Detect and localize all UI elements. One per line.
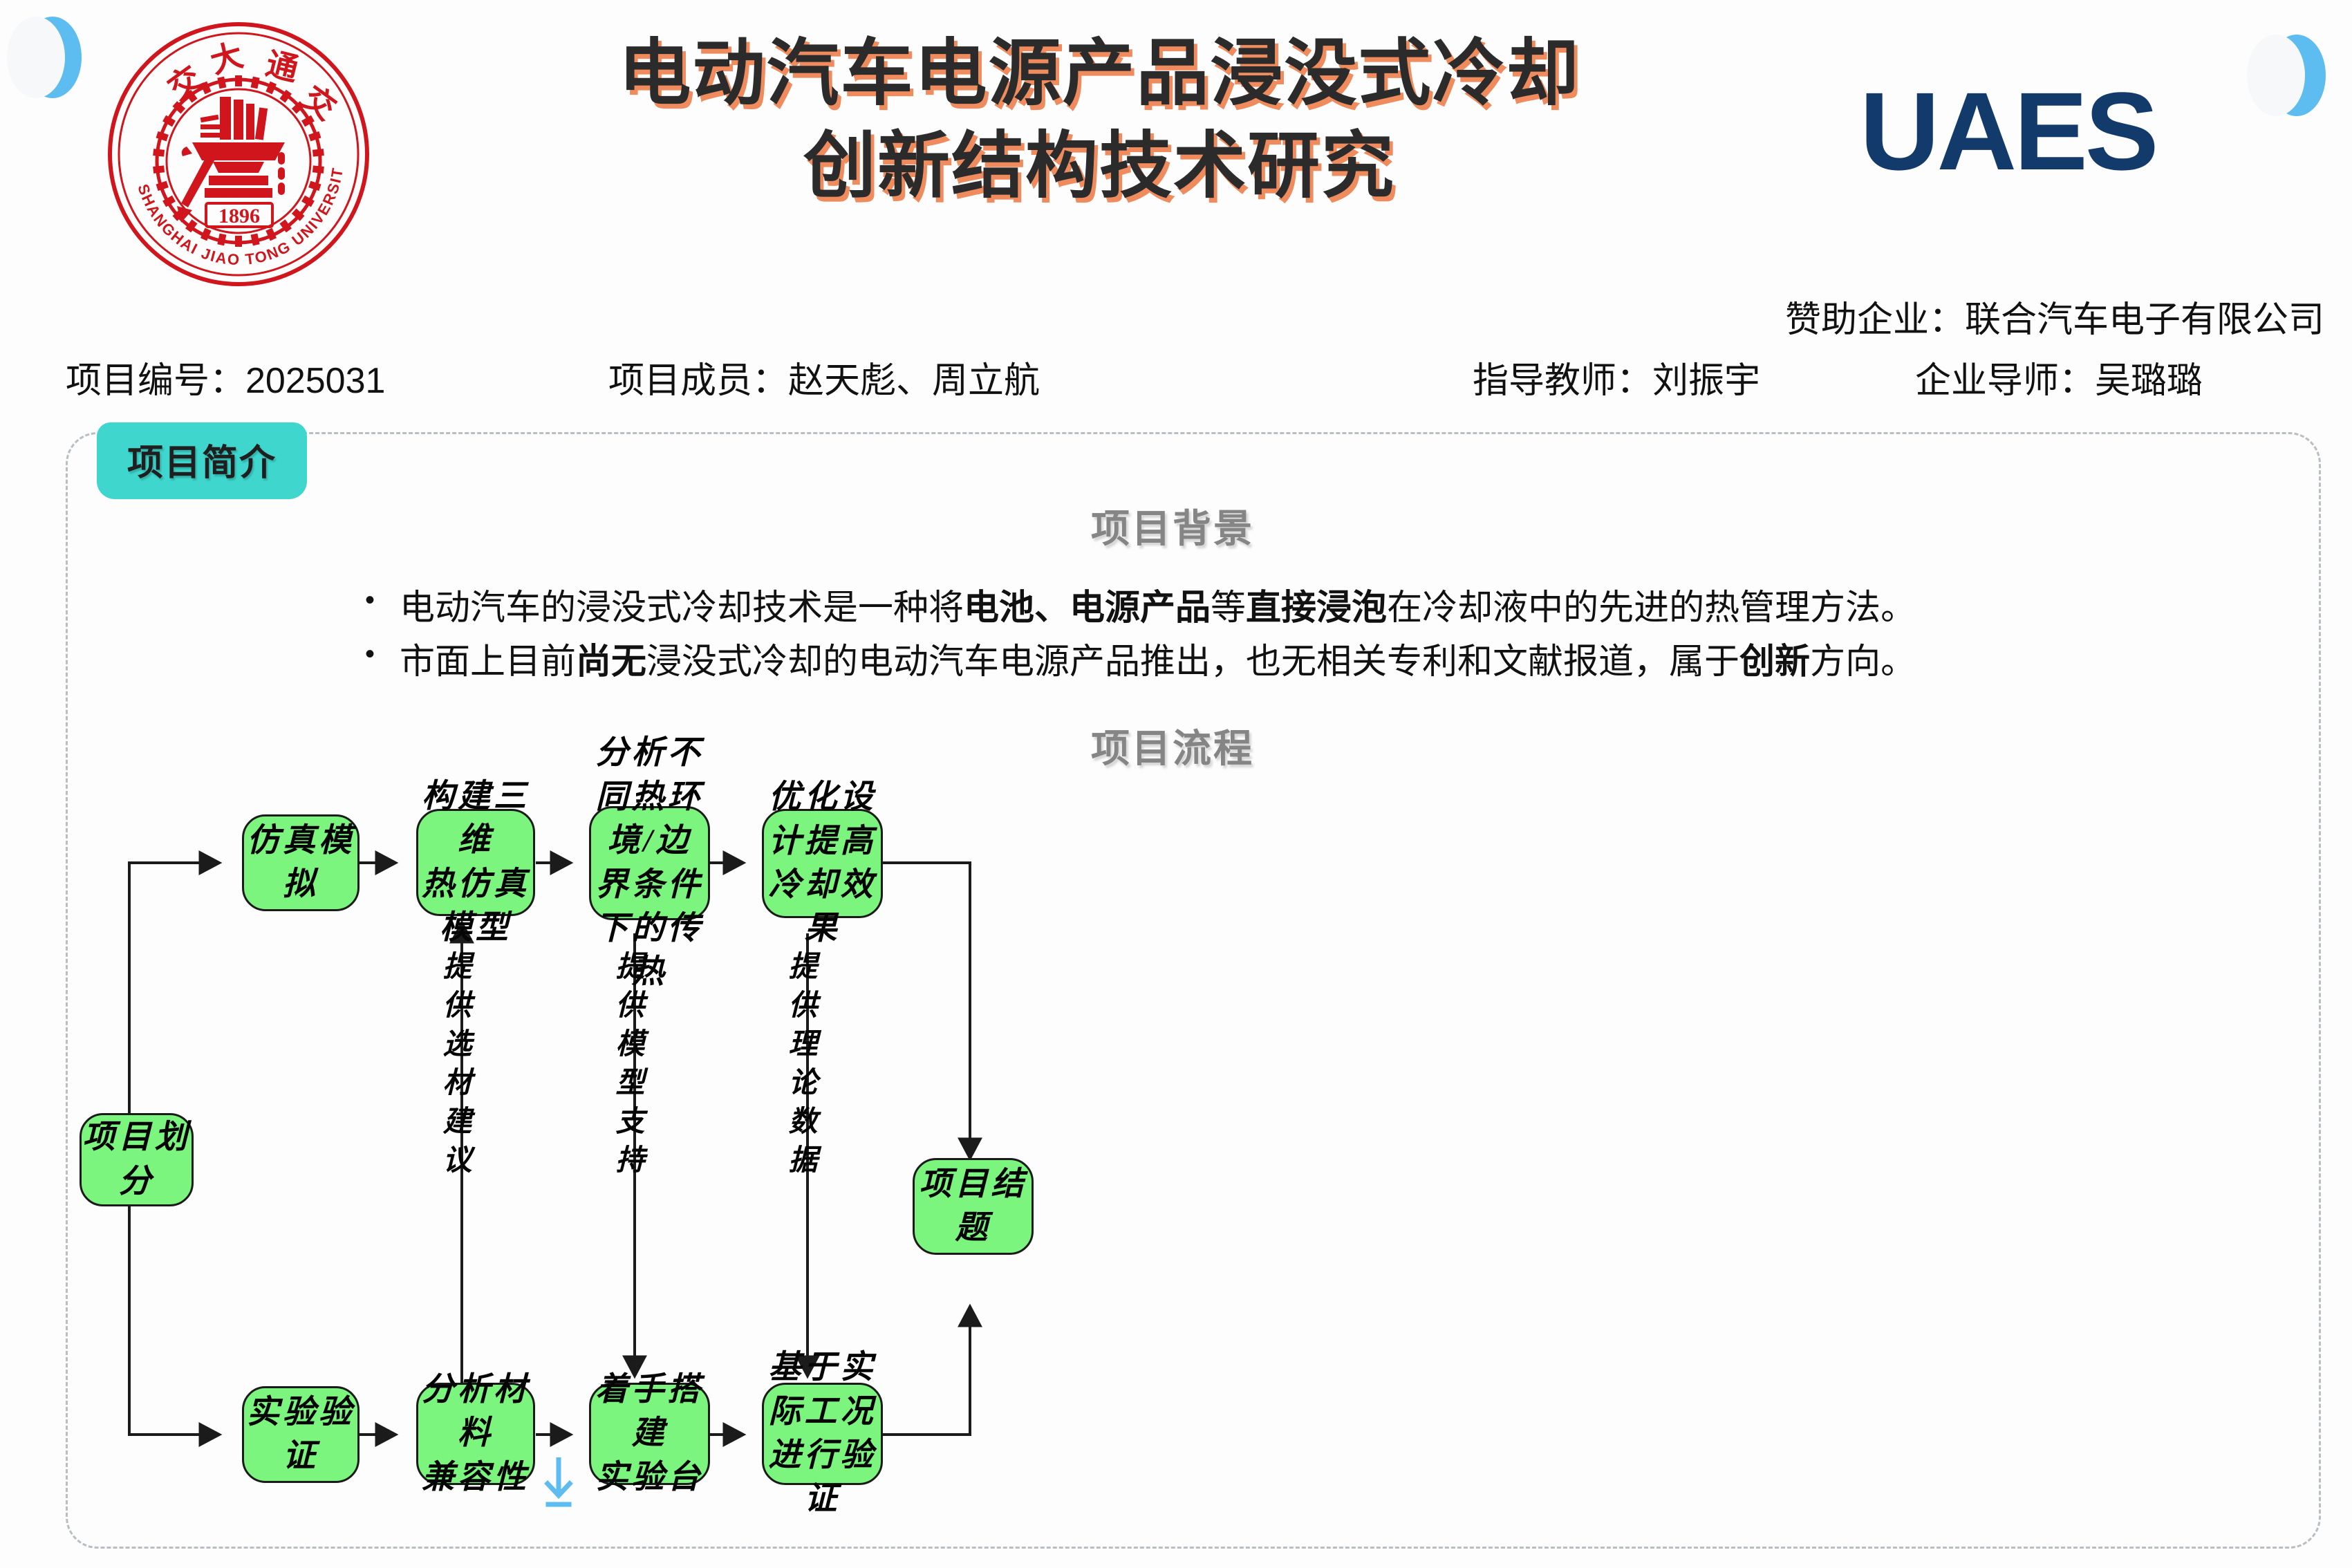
project-number: 项目编号：2025031 — [66, 351, 385, 403]
edge-label-opt-to-validate: 提供理论数据 — [779, 951, 821, 1183]
flow-node-optimize[interactable]: 优化设计提高冷却效果 — [762, 809, 883, 918]
poster-root: 1896 SHANGHAI JIAO TONG UNIVERSITY 交 大 通… — [0, 0, 2352, 1568]
flow-node-label: 优化设计提高冷却效果 — [764, 776, 881, 951]
flow-node-split[interactable]: 项目划分 — [80, 1113, 194, 1206]
flow-node-label: 实验验证 — [244, 1391, 357, 1479]
flow-node-sim[interactable]: 仿真模拟 — [242, 814, 360, 911]
flow-node-label: 基于实际工况进行验证 — [764, 1346, 881, 1522]
flowchart-connectors — [66, 760, 2321, 1521]
seal-year: 1896 — [218, 205, 260, 227]
flow-node-label: 项目划分 — [82, 1116, 192, 1204]
flow-node-experiment[interactable]: 实验验证 — [242, 1386, 360, 1483]
sjtu-seal-logo: 1896 SHANGHAI JIAO TONG UNIVERSITY 交 大 通… — [104, 19, 373, 289]
flow-node-validate[interactable]: 基于实际工况进行验证 — [762, 1383, 883, 1485]
background-bullet-list: 电动汽车的浸没式冷却技术是一种将电池、电源产品等直接浸泡在冷却液中的先进的热管理… — [360, 581, 2295, 688]
list-item: 市面上目前尚无浸没式冷却的电动汽车电源产品推出，也无相关专利和文献报道，属于创新… — [360, 635, 2295, 689]
flow-node-bench[interactable]: 着手搭建实验台 — [589, 1383, 710, 1485]
heading-project-background: 项目背景 — [1091, 498, 1254, 554]
poster-title: 电动汽车电源产品浸没式冷却 创新结构技术研究 — [470, 28, 1728, 214]
project-info-row: 项目编号：2025031 项目成员：赵天彪、周立航 指导教师：刘振宇 企业导师：… — [0, 351, 2352, 400]
project-members: 项目成员：赵天彪、周立航 — [608, 351, 1040, 403]
list-item: 电动汽车的浸没式冷却技术是一种将电池、电源产品等直接浸泡在冷却液中的先进的热管理… — [360, 581, 2295, 635]
flow-node-label: 着手搭建实验台 — [591, 1368, 708, 1500]
flow-node-label: 分析材料兼容性 — [418, 1368, 533, 1500]
svg-text:大: 大 — [207, 37, 247, 80]
flow-node-label: 构建三维热仿真模型 — [418, 775, 533, 951]
crescent-decoration-right — [2268, 35, 2334, 116]
sponsor-company: 赞助企业：联合汽车电子有限公司 — [1785, 290, 2324, 342]
title-line-2: 创新结构技术研究 — [470, 120, 1728, 213]
flow-node-build3d[interactable]: 构建三维热仿真模型 — [416, 809, 535, 916]
flow-node-label: 项目结题 — [915, 1163, 1032, 1251]
project-flowchart: 项目划分 仿真模拟 构建三维热仿真模型 分析不同热环境/边界条件下的传热 优化设… — [66, 760, 2321, 1521]
flow-node-material[interactable]: 分析材料兼容性 — [416, 1383, 535, 1485]
project-mentor: 企业导师：吴璐璐 — [1915, 351, 2203, 403]
title-line-1: 电动汽车电源产品浸没式冷却 — [470, 28, 1728, 120]
uaes-logo: UAES — [1860, 76, 2156, 187]
edge-label-material-to-build3d: 提供选材建议 — [433, 951, 476, 1183]
flow-node-conclude[interactable]: 项目结题 — [913, 1158, 1034, 1255]
crescent-decoration-left — [15, 17, 82, 98]
edge-label-heat-to-bench: 提供模型支持 — [606, 951, 648, 1183]
section-badge-project-intro: 项目简介 — [97, 422, 307, 499]
project-advisor: 指导教师：刘振宇 — [1473, 351, 1760, 403]
flow-node-analyze-heat[interactable]: 分析不同热环境/边界条件下的传热 — [589, 806, 710, 920]
flow-node-label: 仿真模拟 — [244, 819, 357, 907]
svg-text:通: 通 — [263, 46, 302, 88]
svg-text:交: 交 — [296, 80, 342, 127]
